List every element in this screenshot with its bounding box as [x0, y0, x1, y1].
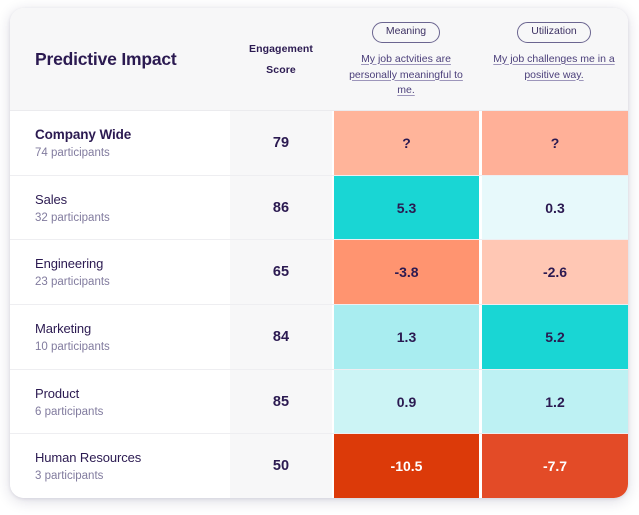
engagement-score-cell: 65 [230, 240, 332, 304]
participant-count: 74 participants [35, 147, 230, 159]
driver-question-utilization[interactable]: My job challenges me in a positive way. [488, 52, 620, 84]
heatmap-cell[interactable]: 0.9 [334, 370, 479, 434]
heatmap-cell[interactable]: -7.7 [482, 434, 628, 498]
engagement-score-cell: 84 [230, 305, 332, 369]
engagement-score-header: Engagement Score [230, 8, 332, 110]
participant-count: 6 participants [35, 406, 230, 418]
table-row[interactable]: Product6 participants850.91.2 [10, 370, 628, 435]
screenshot-stage: Predictive Impact Engagement Score Meani… [0, 0, 639, 515]
table-row[interactable]: Engineering23 participants65-3.8-2.6 [10, 240, 628, 305]
driver-header-meaning: Meaning My job actvities are personally … [332, 8, 480, 110]
engagement-score-header-line2: Score [266, 64, 296, 76]
participant-count: 23 participants [35, 276, 230, 288]
table-row[interactable]: Marketing10 participants841.35.2 [10, 305, 628, 370]
heatmap-cell[interactable]: 5.2 [482, 305, 628, 369]
heatmap-cell[interactable]: 1.2 [482, 370, 628, 434]
participant-count: 10 participants [35, 341, 230, 353]
engagement-score-cell: 79 [230, 111, 332, 175]
heatmap-cell[interactable]: 0.3 [482, 176, 628, 240]
table-body: Company Wide74 participants79??Sales32 p… [10, 111, 628, 498]
segment-name-cell[interactable]: Product6 participants [10, 370, 230, 434]
table-row[interactable]: Sales32 participants865.30.3 [10, 176, 628, 241]
engagement-score-cell: 50 [230, 434, 332, 498]
heatmap-cell[interactable]: ? [334, 111, 479, 175]
heatmap-cell[interactable]: -10.5 [334, 434, 479, 498]
driver-question-meaning[interactable]: My job actvities are personally meaningf… [340, 52, 472, 100]
engagement-score-cell: 86 [230, 176, 332, 240]
engagement-score-cell: 85 [230, 370, 332, 434]
engagement-score-header-line1: Engagement [249, 43, 313, 55]
segment-label: Human Resources [35, 450, 230, 465]
table-row[interactable]: Company Wide74 participants79?? [10, 111, 628, 176]
segment-name-cell[interactable]: Human Resources3 participants [10, 434, 230, 498]
segment-label: Marketing [35, 321, 230, 336]
heatmap-cell[interactable]: -3.8 [334, 240, 479, 304]
heatmap-cell[interactable]: ? [482, 111, 628, 175]
table-header: Predictive Impact Engagement Score Meani… [10, 8, 628, 111]
participant-count: 32 participants [35, 212, 230, 224]
segment-name-cell[interactable]: Sales32 participants [10, 176, 230, 240]
driver-pill-meaning[interactable]: Meaning [372, 22, 440, 43]
segment-label: Engineering [35, 256, 230, 271]
segment-name-cell[interactable]: Engineering23 participants [10, 240, 230, 304]
table-row[interactable]: Human Resources3 participants50-10.5-7.7 [10, 434, 628, 498]
heatmap-cell[interactable]: 5.3 [334, 176, 479, 240]
heatmap-cell[interactable]: -2.6 [482, 240, 628, 304]
segment-name-cell[interactable]: Company Wide74 participants [10, 111, 230, 175]
segment-label: Sales [35, 192, 230, 207]
segment-label: Product [35, 386, 230, 401]
participant-count: 3 participants [35, 470, 230, 482]
segment-label: Company Wide [35, 127, 230, 142]
predictive-impact-card: Predictive Impact Engagement Score Meani… [10, 8, 628, 498]
heatmap-cell[interactable]: 1.3 [334, 305, 479, 369]
driver-pill-utilization[interactable]: Utilization [517, 22, 591, 43]
page-title: Predictive Impact [10, 8, 230, 110]
segment-name-cell[interactable]: Marketing10 participants [10, 305, 230, 369]
driver-header-utilization: Utilization My job challenges me in a po… [480, 8, 628, 110]
